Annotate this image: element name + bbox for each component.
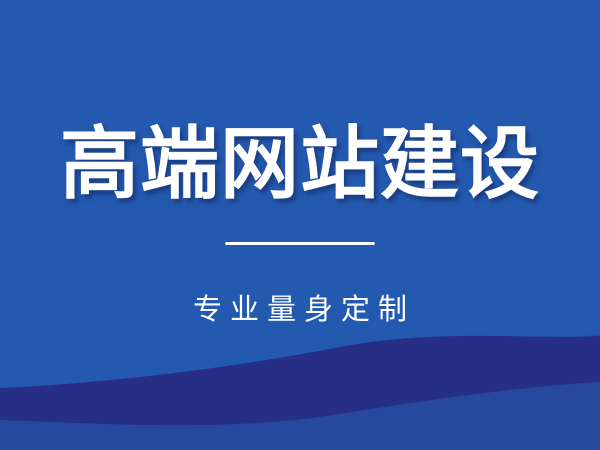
banner-content: 高端网站建设 专业量身定制 [0,0,600,450]
page-subtitle: 专业量身定制 [0,293,600,327]
title-divider [226,242,375,245]
page-title: 高端网站建设 [0,121,600,207]
promo-banner: 高端网站建设 专业量身定制 [0,0,600,450]
